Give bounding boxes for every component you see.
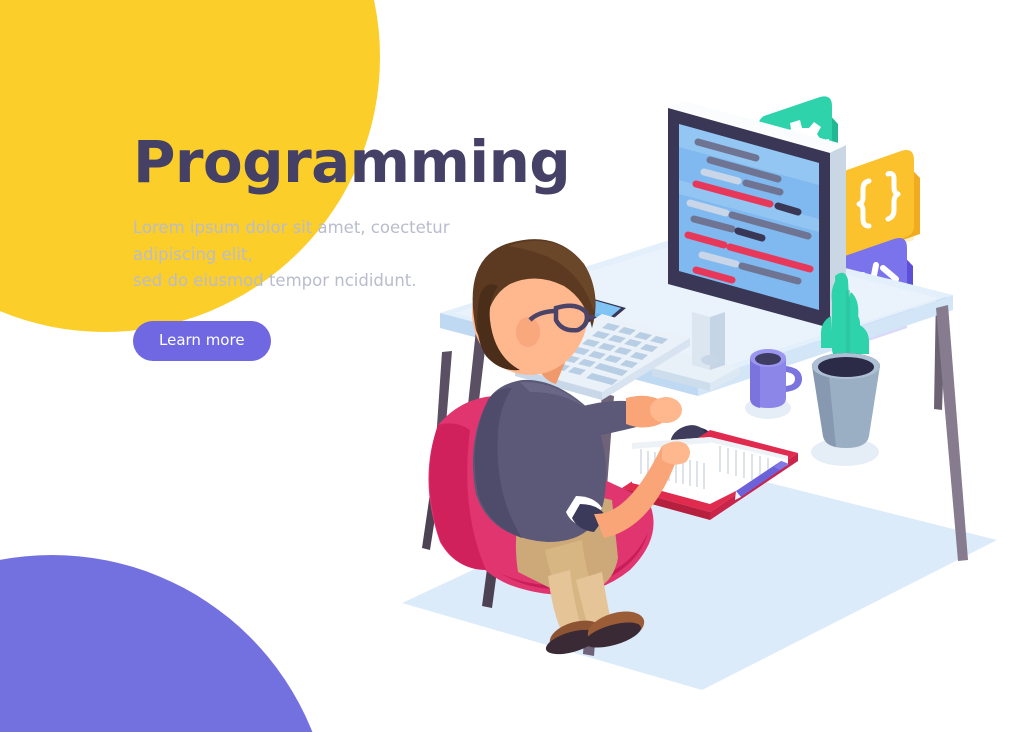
illustration-page: Programming Lorem ipsum dolor sit amet, … [0, 0, 1024, 732]
isometric-programmer-illustration [380, 80, 1024, 732]
braces-badge [835, 150, 920, 260]
purple-circle-decoration [0, 555, 332, 732]
learn-more-button[interactable]: Learn more [133, 321, 271, 361]
desk-leg-front-right [936, 305, 968, 561]
